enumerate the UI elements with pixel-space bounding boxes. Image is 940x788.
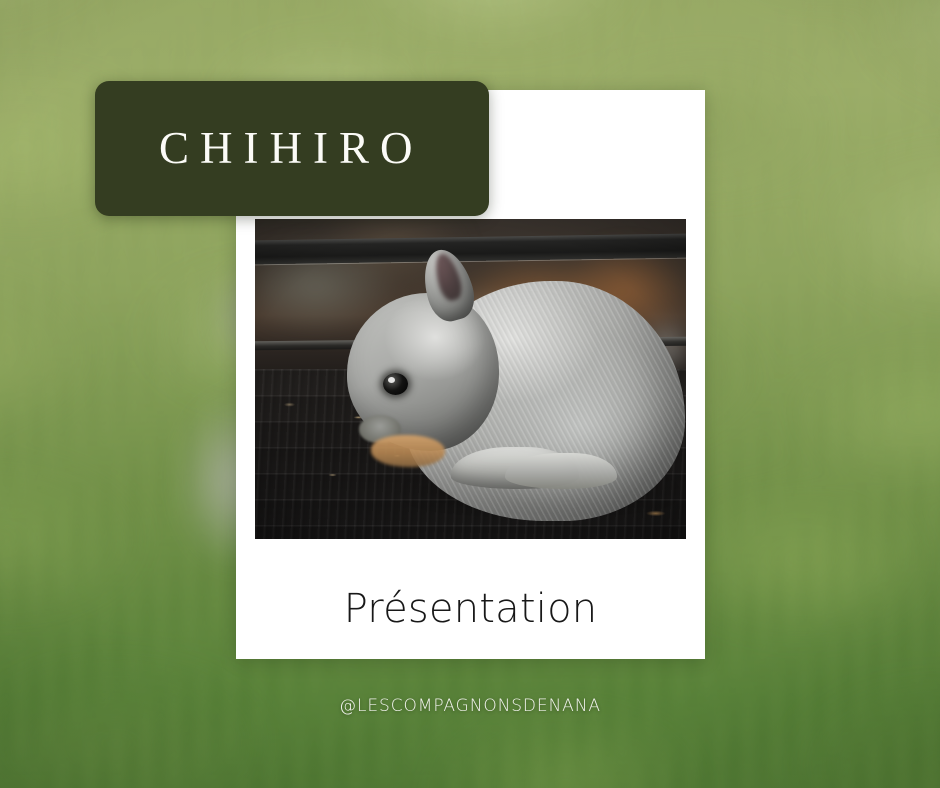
photo-caption: Présentation: [236, 559, 705, 659]
photo-vignette: [255, 219, 686, 539]
social-handle: @LESCOMPAGNONSDENANA: [0, 696, 940, 716]
poster-canvas: Présentation CHIHIRO @LESCOMPAGNONSDENAN…: [0, 0, 940, 788]
page-title: CHIHIRO: [159, 126, 424, 171]
rabbit-photo: [255, 219, 686, 539]
title-card: CHIHIRO: [95, 81, 489, 216]
